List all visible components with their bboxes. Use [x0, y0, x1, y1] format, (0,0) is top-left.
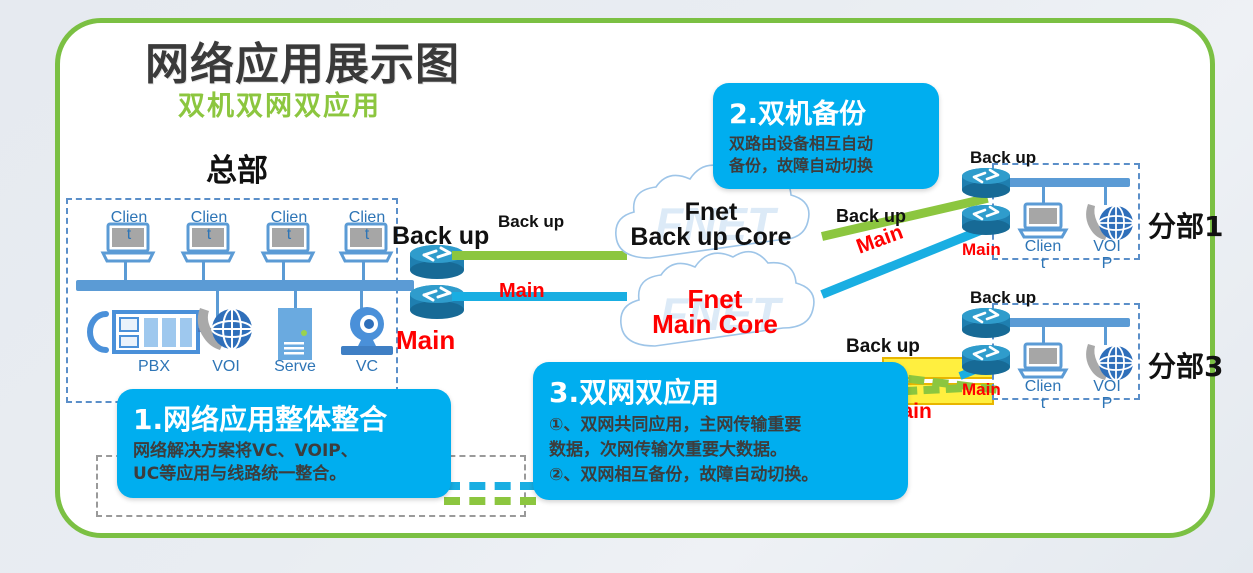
- branch1-title: 分部1: [1148, 205, 1223, 245]
- branch1-router-main[interactable]: [960, 203, 1012, 237]
- hq-voip[interactable]: [188, 300, 258, 360]
- callout-1[interactable]: 1.网络应用整体整合 网络解决方案将VC、VOIP、UC等应用与线路统一整合。: [117, 389, 451, 498]
- hq-client-1-label: Client: [102, 209, 156, 243]
- drop-line: [124, 262, 127, 282]
- branch3-bus: [1002, 318, 1130, 327]
- hq-main-router-label: Main: [396, 325, 455, 356]
- cloud-backup-core-line1: Fnet: [685, 198, 738, 226]
- headquarters-title: 总部: [206, 145, 268, 190]
- callout-2-body: 双路由设备相互自动备份，故障自动切换: [729, 133, 923, 177]
- router-icon: [960, 306, 1012, 340]
- callout-1-heading: 1.网络应用整体整合: [133, 398, 435, 438]
- hq-server[interactable]: [272, 306, 318, 362]
- hq-pbx-label: PBX: [127, 358, 181, 375]
- branch1-client[interactable]: [1018, 202, 1068, 240]
- hq-main-link-label: Main: [499, 280, 545, 303]
- diagram-canvas: 网络应用展示图 双机双网双应用 总部 Client Client Cl: [0, 0, 1253, 573]
- branch3-client-label: Client: [1016, 378, 1070, 412]
- cloud-backup-core-label: Fnet Back up Core: [606, 200, 816, 250]
- cloud-main-core-line2: Main Core: [652, 309, 778, 339]
- hq-voip-label: VOI: [199, 358, 253, 375]
- branch3-title: 分部3: [1148, 345, 1223, 385]
- video-camera-icon: [336, 304, 398, 360]
- laptop-icon: [1018, 202, 1068, 240]
- branch1-client-label: Client: [1016, 238, 1070, 272]
- cloud-backup-core-line2: Back up Core: [630, 223, 791, 251]
- hq-client-2-label: Client: [182, 209, 236, 243]
- router-icon: [408, 243, 466, 281]
- branch3-router-backup[interactable]: [960, 306, 1012, 340]
- callout-2[interactable]: 2.双机备份 双路由设备相互自动备份，故障自动切换: [713, 83, 939, 189]
- laptop-icon: [1018, 342, 1068, 380]
- callout-3-body: ①、双网共同应用，主网传输重要数据，次网传输次重要大数据。②、双网相互备份，故障…: [549, 413, 892, 488]
- hq-vc-label: VC: [340, 358, 394, 375]
- branch3-client[interactable]: [1018, 342, 1068, 380]
- router-icon: [960, 166, 1012, 200]
- router-icon: [960, 343, 1012, 377]
- drop-line: [282, 262, 285, 282]
- legend-main-dashed: [444, 482, 536, 490]
- hq-router-backup[interactable]: [408, 243, 466, 281]
- callout-3-heading: 3.双网双应用: [549, 371, 892, 411]
- hq-client-3-label: Client: [262, 209, 316, 243]
- branch3-backup-router-label: Back up: [970, 288, 1036, 308]
- hq-router-main[interactable]: [408, 283, 466, 321]
- callout-1-body: 网络解决方案将VC、VOIP、UC等应用与线路统一整合。: [133, 440, 435, 486]
- cloud-main-core-label: Fnet Main Core: [615, 287, 815, 337]
- drop-line: [362, 262, 365, 282]
- hq-server-label: Serve: [268, 358, 322, 375]
- voip-globe-icon: [188, 300, 258, 360]
- page-subtitle: 双机双网双应用: [178, 84, 381, 123]
- page-title: 网络应用展示图: [145, 28, 460, 92]
- hq-client-4-label: Client: [340, 209, 394, 243]
- branch1-backup-router-label: Back up: [970, 148, 1036, 168]
- router-icon: [960, 203, 1012, 237]
- branch3-router-main[interactable]: [960, 343, 1012, 377]
- router-icon: [408, 283, 466, 321]
- branch1-main-router-label: Main: [962, 240, 1001, 260]
- callout-3[interactable]: 3.双网双应用 ①、双网共同应用，主网传输重要数据，次网传输次重要大数据。②、双…: [533, 362, 908, 500]
- hq-vc[interactable]: [336, 304, 398, 360]
- branch1-router-backup[interactable]: [960, 166, 1012, 200]
- branch1-voip-label: VOIP: [1080, 238, 1134, 272]
- callout-2-heading: 2.双机备份: [729, 92, 923, 131]
- branch3-voip-label: VOIP: [1080, 378, 1134, 412]
- server-icon: [272, 306, 318, 362]
- branch3-main-router-label: Main: [962, 380, 1001, 400]
- branch3-backup-link-label: Back up: [846, 336, 920, 358]
- legend-backup-dashed: [444, 497, 536, 505]
- drop-line: [202, 262, 205, 282]
- branch1-bus: [1002, 178, 1130, 187]
- hq-backup-link-label: Back up: [498, 212, 564, 232]
